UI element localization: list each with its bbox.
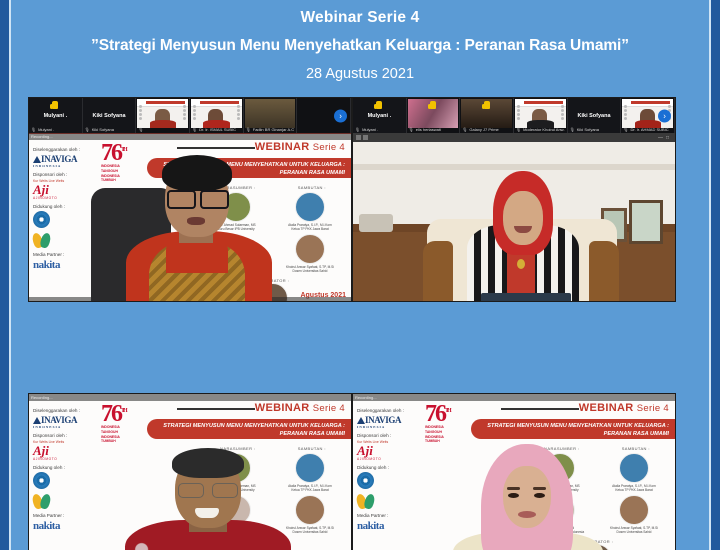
avatar	[619, 495, 649, 525]
recording-label: Recording...	[31, 133, 53, 140]
media-partner-label: Media Partner :	[33, 252, 87, 257]
participant-filmstrip[interactable]: Mulyani . Mulyani . Kiki Sofyana Kiki So…	[29, 98, 351, 133]
recording-bar: Recording...	[29, 394, 351, 401]
inaviga-logo: INAVIGA INDONESIA	[33, 415, 87, 429]
shared-webinar-poster: Recording... Diselenggarakan oleh : INAV…	[353, 394, 675, 550]
tile-row-1: Mulyani . Mulyani . Kiki Sofyana Kiki So…	[11, 97, 709, 348]
poster-webinar-title: WEBINAR Serie 4	[255, 402, 345, 414]
participant-cell[interactable]: Dr. Ir. ISMAIL SUBIC	[190, 98, 244, 133]
raised-hand-icon	[484, 101, 490, 109]
brooch-icon	[517, 259, 525, 269]
participant-name: Mulyani .	[44, 113, 68, 119]
speaker-card: Atalia Praratya, S.I.P., M.I.Kom Ketua T…	[273, 192, 347, 231]
participant-label: Galaxy J7 Prime	[462, 127, 511, 132]
triangle-icon	[33, 156, 41, 163]
ajinomoto-logo: Aji	[33, 444, 87, 457]
shared-screen-thumbnail	[515, 99, 566, 128]
participant-label: Mulyani .	[355, 127, 404, 132]
poster-sidebar: Diselenggarakan oleh : INAVIGA INDONESIA…	[353, 401, 415, 550]
greeting-column-label: SAMBUTAN :	[298, 185, 326, 190]
nakita-logo: nakita	[357, 520, 411, 532]
inaviga-logo: INAVIGA INDONESIA	[33, 154, 87, 168]
shared-webinar-poster: Recording... Diselenggarakan oleh : INAV…	[29, 394, 351, 550]
organizer-label: Diselenggarakan oleh :	[357, 408, 411, 413]
speaker-card: Khoirul Anwar Syafaat, S.TP, M.Si Dosen …	[273, 234, 347, 273]
shared-webinar-poster: Recording... Diselenggarakan oleh : INAV…	[29, 133, 351, 302]
chevron-right-icon[interactable]: ›	[334, 109, 347, 122]
window-controls[interactable]: —□	[658, 135, 672, 141]
divider	[177, 147, 255, 149]
media-partner-label: Media Partner :	[33, 513, 87, 518]
avatar	[295, 495, 325, 525]
sponsor-label: Disponsori oleh :	[357, 433, 411, 438]
shared-screen-thumbnail	[137, 99, 188, 128]
participant-name: Mulyani .	[368, 113, 392, 119]
speaker-card: Khoirul Anwar Syafaat, S.TP, M.Si Dosen …	[597, 495, 671, 534]
triangle-icon	[357, 417, 365, 424]
participant-cell[interactable]: Kiki Sofyana Kiki Sofyana	[568, 98, 622, 133]
participant-label: Dr. Ir. ISMAIL SUBIC	[192, 127, 241, 132]
divider	[177, 408, 255, 410]
page-title: Webinar Serie 4	[11, 9, 709, 27]
tile-opening[interactable]: Mulyani . Mulyani . elis herlaswati Gala…	[352, 97, 676, 302]
poster-sidebar: Diselenggarakan oleh : INAVIGA INDONESIA…	[29, 401, 91, 550]
greeting-column-label: SAMBUTAN :	[622, 446, 650, 451]
laptop-icon	[481, 293, 571, 302]
raised-hand-icon	[430, 101, 436, 109]
nakita-logo: nakita	[33, 259, 87, 271]
ajinomoto-label: AJINOMOTO	[33, 457, 87, 461]
window-chrome-bar[interactable]: —□	[353, 133, 675, 142]
participant-label: Kiki Sofyana	[570, 127, 619, 132]
opening-webcam-video	[353, 142, 675, 302]
greeting-column-label: SAMBUTAN :	[298, 446, 326, 451]
glasses-icon	[178, 483, 238, 496]
speaker-video-person	[441, 153, 601, 302]
divider	[501, 408, 579, 410]
participant-cell[interactable]: Galaxy J7 Prime	[460, 98, 514, 133]
supporter-logo-2	[357, 492, 374, 509]
tile-row-2: Recording... Diselenggarakan oleh : INAV…	[11, 393, 709, 550]
tile-moderator[interactable]: Mulyani . Mulyani . Kiki Sofyana Kiki So…	[28, 97, 352, 302]
supporter-logo-1	[33, 211, 50, 228]
inaviga-logo: INAVIGA INDONESIA	[357, 415, 411, 429]
poster-sidebar: Diselenggarakan oleh : INAVIGA INDONESIA…	[29, 140, 91, 296]
participant-label: Moderator Khoirul Anw..	[516, 127, 565, 132]
participant-label	[138, 127, 187, 132]
recording-bar: Recording...	[29, 133, 351, 140]
speaker-video-person	[121, 158, 271, 302]
participant-cell[interactable]	[136, 98, 190, 133]
page-subtitle: ”Strategi Menyusun Menu Menyehatkan Kelu…	[11, 37, 709, 55]
tile-speaker-4[interactable]: Recording... Diselenggarakan oleh : INAV…	[352, 393, 676, 550]
window-button[interactable]	[363, 135, 368, 140]
participant-label: Kiki Sofyana	[85, 127, 134, 132]
organizer-label: Diselenggarakan oleh :	[33, 408, 87, 413]
participant-cell[interactable]: Dr. Ir. AHMAD SUBIC ›	[621, 98, 675, 133]
supporter-logo-1	[357, 472, 374, 489]
speaker-card: Atalia Praratya, S.I.P., M.I.Kom Ketua T…	[597, 453, 671, 492]
supporter-logo-1	[33, 472, 50, 489]
participant-cell[interactable]: elis herlaswati	[407, 98, 461, 133]
participant-name: Kiki Sofyana	[578, 113, 611, 119]
organizer-label: Diselenggarakan oleh :	[33, 147, 87, 152]
glasses-icon	[167, 190, 229, 205]
participant-label: Mulyani .	[31, 127, 80, 132]
poster-webinar-title: WEBINAR Serie 4	[255, 141, 345, 153]
participant-label: Fadlin BR Ginanjar A.C..	[246, 127, 295, 132]
participant-cell[interactable]: Moderator Khoirul Anw..	[514, 98, 568, 133]
window-button[interactable]	[356, 135, 361, 140]
supporter-label: Didukung oleh :	[33, 204, 87, 209]
ajinomoto-label: AJINOMOTO	[33, 196, 87, 200]
participant-label: Dr. Ir. AHMAD SUBIC	[623, 127, 672, 132]
supporter-logo-2	[33, 492, 50, 509]
avatar	[295, 234, 325, 264]
ajinomoto-logo: Aji	[33, 183, 87, 196]
slide-title-block: Webinar Serie 4 ”Strategi Menyusun Menu …	[11, 0, 709, 82]
recording-label: Recording...	[355, 394, 377, 401]
participant-cell[interactable]: Kiki Sofyana Kiki Sofyana	[83, 98, 137, 133]
sponsor-label: Disponsori oleh :	[33, 172, 87, 177]
page-date: 28 Agustus 2021	[11, 66, 709, 82]
shared-screen-thumbnail	[191, 99, 242, 128]
avatar	[295, 192, 325, 222]
ajinomoto-logo: Aji	[357, 444, 411, 457]
raised-hand-icon	[376, 101, 382, 109]
participant-video	[245, 99, 296, 128]
participant-cell[interactable]: Mulyani . Mulyani .	[29, 98, 83, 133]
participant-cell[interactable]: Mulyani . Mulyani .	[353, 98, 407, 133]
triangle-icon	[33, 417, 41, 424]
poster-topic-banner: STRATEGI MENYUSUN MENU MENYEHATKAN UNTUK…	[147, 419, 351, 439]
participant-label: elis herlaswati	[409, 127, 458, 132]
video-tile-grid: Mulyani . Mulyani . Kiki Sofyana Kiki So…	[11, 97, 709, 550]
participant-filmstrip[interactable]: Mulyani . Mulyani . elis herlaswati Gala…	[353, 98, 675, 133]
participant-name: Kiki Sofyana	[93, 113, 126, 119]
ajinomoto-label: AJINOMOTO	[357, 457, 411, 461]
speaker-video-person	[445, 434, 605, 550]
webinar-screenshot: Webinar Serie 4 ”Strategi Menyusun Menu …	[0, 0, 720, 550]
slide-canvas: Webinar Serie 4 ”Strategi Menyusun Menu …	[11, 0, 709, 550]
avatar	[295, 453, 325, 483]
sponsor-label: Disponsori oleh :	[33, 433, 87, 438]
speaker-video-person	[125, 446, 291, 550]
tile-speaker-3[interactable]: Recording... Diselenggarakan oleh : INAV…	[28, 393, 352, 550]
media-partner-label: Media Partner :	[357, 513, 411, 518]
participant-cell[interactable]: Fadlin BR Ginanjar A.C..	[244, 98, 298, 133]
chevron-right-icon[interactable]: ›	[658, 109, 671, 122]
recording-label: Recording...	[31, 394, 53, 401]
raised-hand-icon	[52, 101, 58, 109]
supporter-logo-2	[33, 231, 50, 248]
nakita-logo: nakita	[33, 520, 87, 532]
supporter-label: Didukung oleh :	[357, 465, 411, 470]
filmstrip-next-cell[interactable]: ›	[297, 98, 351, 133]
supporter-label: Didukung oleh :	[33, 465, 87, 470]
avatar	[619, 453, 649, 483]
recording-bar: Recording...	[353, 394, 675, 401]
poster-webinar-title: WEBINAR Serie 4	[579, 402, 669, 414]
